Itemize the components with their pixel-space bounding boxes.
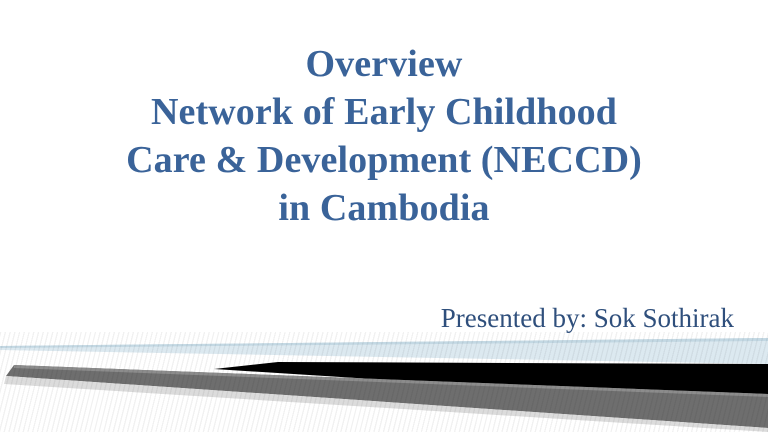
light-gray-wedge — [4, 376, 768, 432]
title-slide: Overview Network of Early Childhood Care… — [0, 0, 768, 432]
black-wedge — [214, 362, 768, 404]
pale-blue-wedge-edge — [0, 338, 768, 348]
page-title: Overview Network of Early Childhood Care… — [0, 40, 768, 232]
ribbon-shapes — [0, 332, 768, 432]
title-line-1: Overview — [0, 40, 768, 88]
pale-blue-wedge — [0, 338, 768, 364]
angled-ribbon-footer-graphic — [0, 332, 768, 432]
title-line-3: Care & Development (NECCD) — [0, 136, 768, 184]
diagonal-hatch-texture — [0, 332, 768, 432]
presenter-credit: Presented by: Sok Sothirak — [441, 302, 734, 334]
title-line-4: in Cambodia — [0, 184, 768, 232]
presenter-name: Presented by: Sok Sothirak — [441, 303, 734, 333]
title-line-2: Network of Early Childhood — [0, 88, 768, 136]
gray-wedge — [6, 365, 768, 428]
gray-wedge-highlight — [14, 365, 768, 397]
